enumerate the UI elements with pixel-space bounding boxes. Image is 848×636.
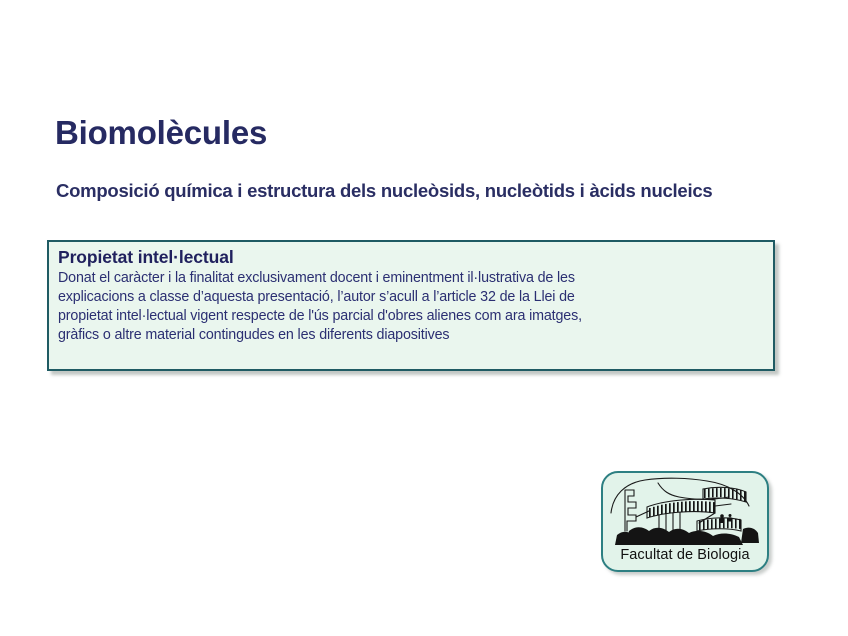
faculty-building-sketch-icon: [603, 473, 767, 549]
slide-canvas: Biomolècules Composició química i estruc…: [0, 0, 848, 636]
notice-body: Donat el caràcter i la finalitat exclusi…: [58, 269, 763, 346]
notice-heading: Propietat intel·lectual: [58, 247, 763, 268]
notice-line: propietat intel·lectual vigent respecte …: [58, 307, 763, 326]
notice-line: gràfics o altre material contingudes en …: [58, 326, 763, 345]
intellectual-property-notice: Propietat intel·lectual Donat el caràcte…: [47, 240, 775, 371]
notice-line: Donat el caràcter i la finalitat exclusi…: [58, 269, 763, 288]
page-title: Biomolècules: [55, 114, 267, 152]
faculty-logo: Facultat de Biologia: [601, 471, 769, 572]
logo-caption: Facultat de Biologia: [603, 547, 767, 563]
notice-content: Propietat intel·lectual Donat el caràcte…: [49, 242, 773, 346]
notice-line: explicacions a classe d’aquesta presenta…: [58, 288, 763, 307]
slide-subtitle: Composició química i estructura dels nuc…: [56, 180, 712, 202]
